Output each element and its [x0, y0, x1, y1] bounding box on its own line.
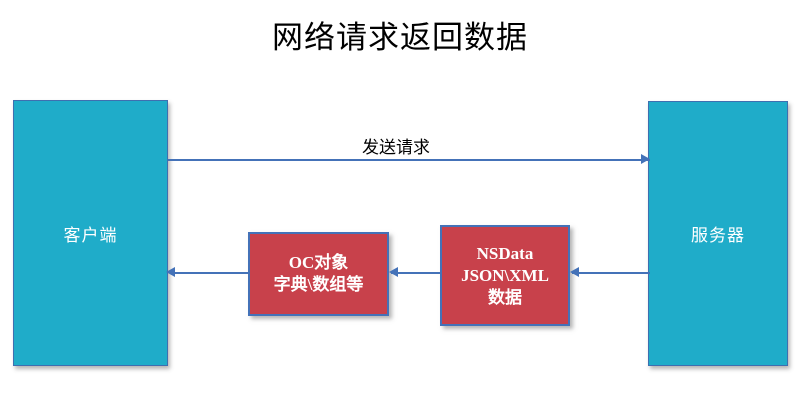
- server-node[interactable]: 服务器: [648, 101, 788, 366]
- response-arrowhead-icon-nsdata: [570, 267, 579, 277]
- oc-object-line-1: OC对象: [289, 252, 349, 274]
- request-arrow-label: 发送请求: [296, 133, 496, 158]
- client-node[interactable]: 客户端: [13, 100, 168, 366]
- response-arrow-line-server-to-nsdata: [572, 272, 650, 274]
- response-arrow-line-oc-to-client: [170, 272, 248, 274]
- diagram-canvas: 网络请求返回数据 客户端 服务器 发送请求 OC对象 字典\数组等 NSData…: [0, 0, 800, 401]
- client-node-label: 客户端: [64, 221, 118, 246]
- response-arrowhead-icon-client: [166, 267, 175, 277]
- page-title: 网络请求返回数据: [0, 18, 800, 58]
- nsdata-line-1: NSData: [477, 243, 534, 265]
- server-node-label: 服务器: [691, 221, 745, 246]
- oc-object-node[interactable]: OC对象 字典\数组等: [248, 232, 389, 316]
- nsdata-node[interactable]: NSData JSON\XML 数据: [440, 225, 570, 326]
- request-arrow-line: [168, 159, 650, 161]
- nsdata-line-2: JSON\XML: [461, 265, 549, 287]
- nsdata-line-3: 数据: [488, 287, 522, 309]
- response-arrowhead-icon-oc: [389, 267, 398, 277]
- response-arrow-line-nsdata-to-oc: [391, 272, 440, 274]
- oc-object-line-2: 字典\数组等: [274, 274, 364, 296]
- request-arrowhead-icon: [641, 154, 650, 164]
